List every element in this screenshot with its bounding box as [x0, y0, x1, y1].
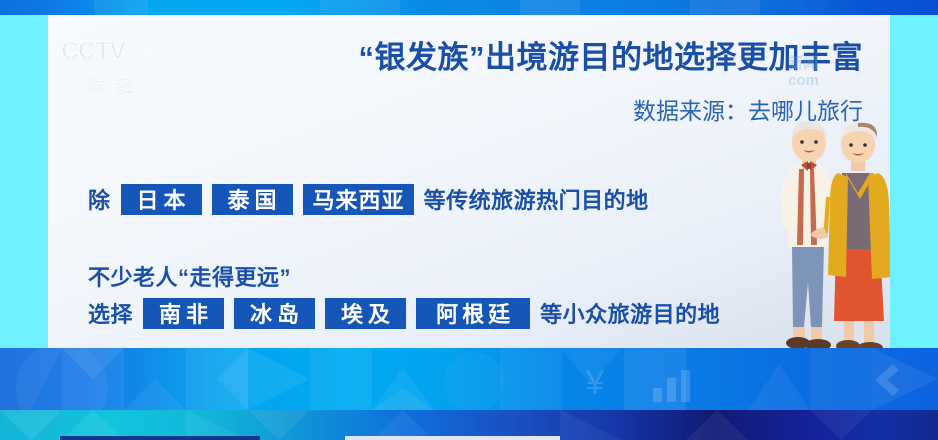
statement-line-1: 除 日本 泰国 马来西亚 等传统旅游热门目的地	[88, 183, 654, 215]
right-cyan-band	[890, 15, 938, 348]
destination-tag-thailand: 泰国	[212, 184, 293, 215]
line3-trail-text: 等小众旅游目的地	[535, 297, 725, 329]
yen-currency-icon: ¥	[575, 362, 615, 402]
bottom-decorative-band: ¥	[0, 348, 938, 440]
destination-tag-japan: 日本	[121, 184, 202, 215]
bottom-underline-left	[60, 436, 260, 440]
line1-trail-text: 等传统旅游热门目的地	[419, 183, 654, 215]
statement-line-3: 选择 南非 冰岛 埃及 阿根廷 等小众旅游目的地	[88, 297, 725, 329]
headline: “银发族”出境游目的地选择更加丰富	[253, 41, 863, 76]
destination-tag-malaysia: 马来西亚	[303, 184, 414, 215]
content-panel: CCTV 2 财经 “银发族”出境游目的地选择更加丰富 数据来源：去哪儿旅行 新…	[48, 15, 890, 348]
bar-chart-icon	[650, 368, 696, 402]
bottom-underline-right	[345, 436, 560, 440]
cctv2-finance-logo: CCTV 2 财经	[61, 35, 181, 99]
channel-subtitle: 财经	[61, 71, 173, 95]
band-facets	[0, 348, 938, 410]
channel-number-badge: 2	[130, 37, 162, 65]
broadcast-graphic: CCTV 2 财经 “银发族”出境游目的地选择更加丰富 数据来源：去哪儿旅行 新…	[0, 0, 938, 440]
cctv-wordmark: CCTV	[61, 37, 125, 66]
statement-line-2: 不少老人“走得更远”	[88, 260, 296, 292]
top-decorative-strip	[0, 0, 938, 15]
destination-tag-south-africa: 南非	[143, 298, 224, 329]
line3-lead-text: 选择	[88, 297, 138, 329]
svg-text:¥: ¥	[585, 364, 605, 402]
line2-text: 不少老人“走得更远”	[88, 260, 296, 292]
destination-tag-argentina: 阿根廷	[416, 298, 530, 329]
line1-lead-text: 除	[88, 183, 116, 215]
destination-tag-egypt: 埃及	[325, 298, 406, 329]
left-cyan-band	[0, 15, 48, 348]
chevron-left-icon	[865, 362, 905, 398]
destination-tag-iceland: 冰岛	[234, 298, 315, 329]
elderly-couple-illustration	[748, 115, 890, 348]
